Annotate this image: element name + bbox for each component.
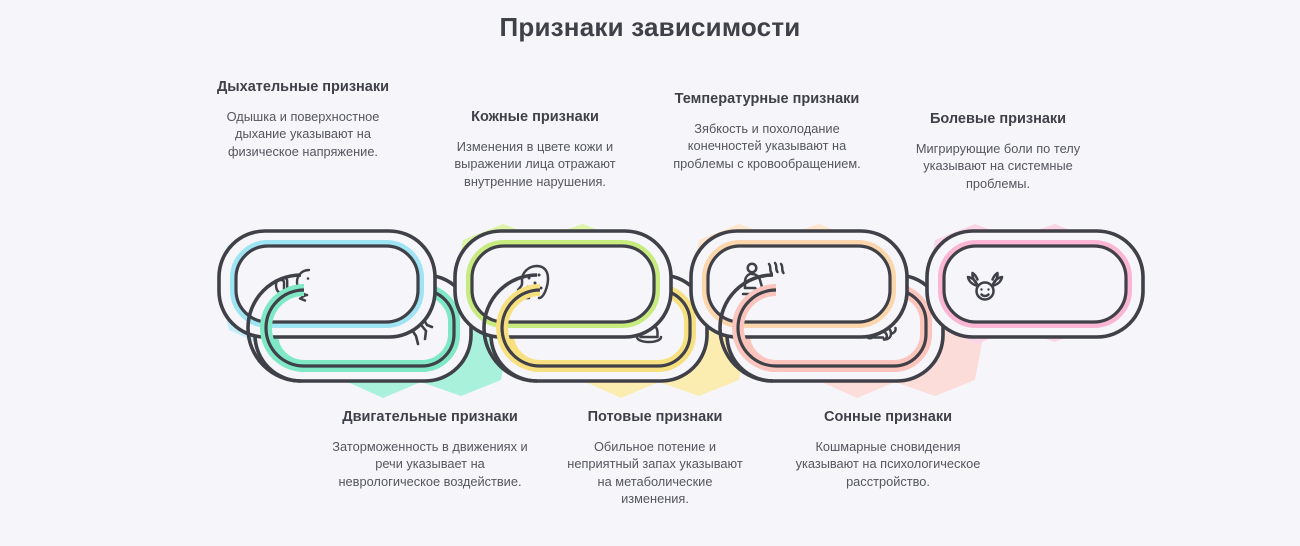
card-breathing: Дыхательные признаки Одышка и поверхност…: [207, 78, 399, 160]
card-description: Зябкость и похолодание конечностей указы…: [668, 120, 866, 172]
chain-link-sleep: [727, 275, 943, 381]
card-title: Кожные признаки: [440, 108, 630, 127]
card-motor: Двигательные признаки Заторможенность в …: [332, 408, 528, 490]
card-title: Двигательные признаки: [332, 408, 528, 427]
card-sleep: Сонные признаки Кошмарные сновидения ука…: [790, 408, 986, 490]
card-description: Заторможенность в движениях и речи указы…: [332, 438, 528, 490]
chain-link-sweat: [491, 275, 707, 381]
card-description: Изменения в цвете кожи и выражении лица …: [440, 138, 630, 190]
card-title: Сонные признаки: [790, 408, 986, 427]
card-temperature: Температурные признаки Зябкость и похоло…: [668, 90, 866, 172]
card-pain: Болевые признаки Мигрирующие боли по тел…: [900, 110, 1096, 192]
card-description: Мигрирующие боли по телу указывают на си…: [900, 140, 1096, 192]
card-sweat: Потовые признаки Обильное потение и непр…: [562, 408, 748, 507]
chain-link-temperature: [691, 231, 907, 337]
chain-link-pain: [927, 231, 1143, 337]
chain-link-motor: [255, 275, 471, 381]
page-title: Признаки зависимости: [0, 12, 1300, 43]
card-skin: Кожные признаки Изменения в цвете кожи и…: [440, 108, 630, 190]
infographic-page: Признаки зависимости: [0, 0, 1300, 546]
card-title: Потовые признаки: [562, 408, 748, 427]
card-title: Температурные признаки: [668, 90, 866, 109]
card-title: Болевые признаки: [900, 110, 1096, 129]
card-title: Дыхательные признаки: [207, 78, 399, 97]
chain-link-skin: [455, 231, 671, 337]
card-description: Обильное потение и неприятный запах указ…: [562, 438, 748, 507]
chain-link-breathing: [219, 231, 435, 337]
card-description: Кошмарные сновидения указывают на психол…: [790, 438, 986, 490]
card-description: Одышка и поверхностное дыхание указывают…: [207, 108, 399, 160]
chain-splashes: [219, 224, 1105, 398]
chain-interlock-overlays: [248, 275, 776, 381]
